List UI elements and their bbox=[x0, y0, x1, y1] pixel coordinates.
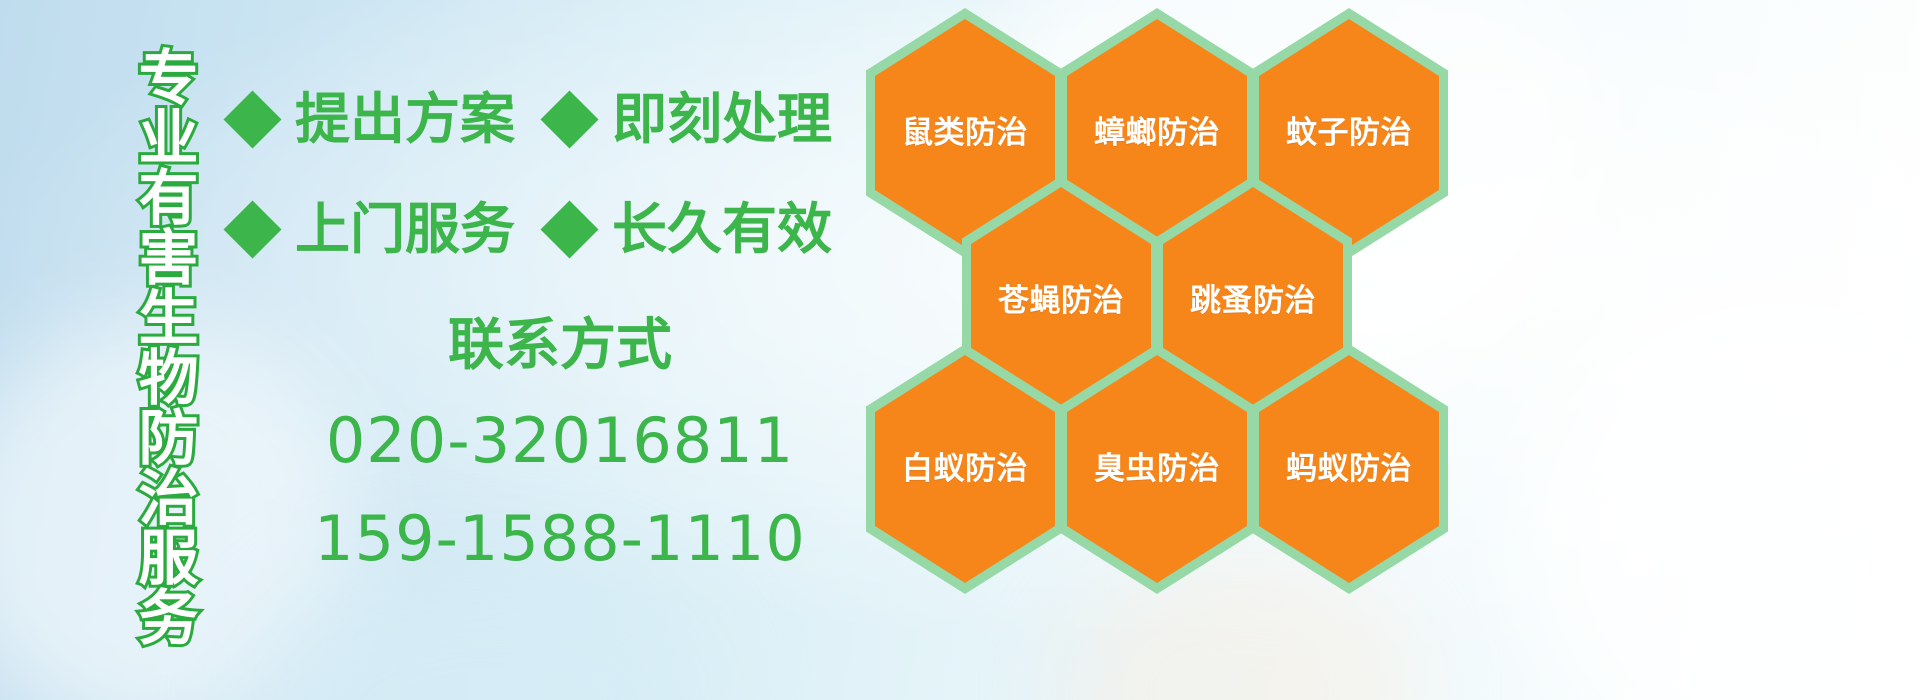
hex-cell-ant[interactable]: 蚂蚁防治 bbox=[1250, 344, 1448, 594]
feature-item-onsite-service: 上门服务 bbox=[232, 202, 515, 257]
hex-label: 鼠类防治 bbox=[902, 118, 1028, 149]
diamond-icon bbox=[224, 91, 282, 149]
feature-item-long-lasting: 长久有效 bbox=[549, 202, 832, 257]
hex-label: 苍蝇防治 bbox=[998, 286, 1124, 317]
hex-cell-termite[interactable]: 白蚁防治 bbox=[866, 344, 1064, 594]
feature-row-1: 提出方案 即刻处理 bbox=[232, 92, 832, 147]
feature-item-propose-plan: 提出方案 bbox=[232, 92, 515, 147]
feature-label: 提出方案 bbox=[295, 92, 515, 147]
phone-number-landline[interactable]: 020-32016811 bbox=[300, 410, 820, 472]
feature-row-2: 上门服务 长久有效 bbox=[232, 202, 832, 257]
contact-title: 联系方式 bbox=[300, 318, 820, 374]
hex-label: 臭虫防治 bbox=[1094, 454, 1220, 485]
hex-label: 跳蚤防治 bbox=[1190, 286, 1316, 317]
diamond-icon bbox=[224, 201, 282, 259]
hex-label: 蚊子防治 bbox=[1286, 118, 1412, 149]
background-glow-right bbox=[1520, 280, 1920, 700]
hex-label: 蚂蚁防治 bbox=[1286, 454, 1412, 485]
vertical-headline: 专业有害生物防治服务 bbox=[106, 16, 194, 676]
hex-label: 蟑螂防治 bbox=[1094, 118, 1220, 149]
pest-control-banner: 专业有害生物防治服务 提出方案 即刻处理 上门服务 长久有效 联系方式 020-… bbox=[0, 0, 1920, 700]
diamond-icon bbox=[541, 91, 599, 149]
service-honeycomb: 鼠类防治 蟑螂防治 蚊子防治 苍蝇防治 跳蚤防治 bbox=[860, 0, 1480, 700]
hex-cell-bedbug[interactable]: 臭虫防治 bbox=[1058, 344, 1256, 594]
phone-number-mobile[interactable]: 159-1588-1110 bbox=[300, 508, 820, 570]
feature-label: 即刻处理 bbox=[612, 92, 832, 147]
hex-label: 白蚁防治 bbox=[902, 454, 1028, 485]
feature-label: 上门服务 bbox=[295, 202, 515, 257]
feature-label: 长久有效 bbox=[612, 202, 832, 257]
diamond-icon bbox=[541, 201, 599, 259]
contact-block: 联系方式 020-32016811 159-1588-1110 bbox=[300, 318, 820, 606]
feature-item-immediate-handling: 即刻处理 bbox=[549, 92, 832, 147]
